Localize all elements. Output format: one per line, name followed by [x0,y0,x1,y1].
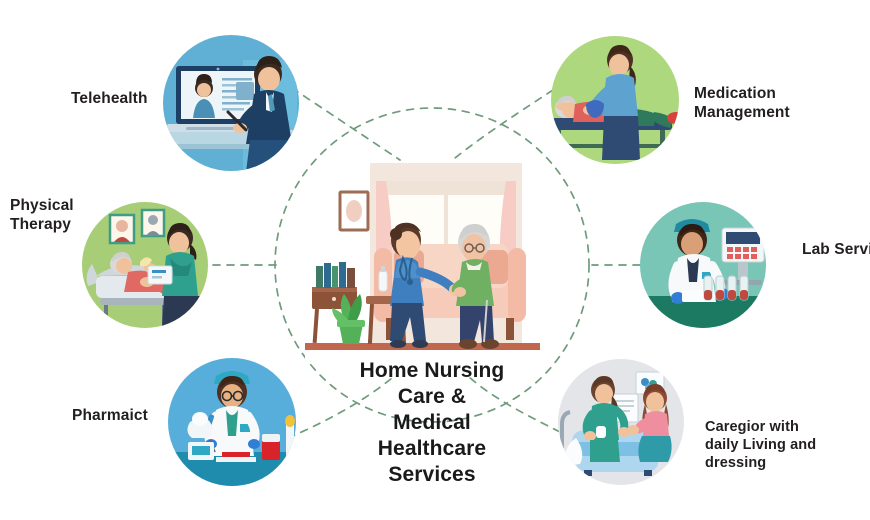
home-nursing-illustration [305,163,540,360]
medication-management-circle[interactable] [551,36,685,164]
telehealth-circle[interactable] [155,35,301,172]
pharmacist-circle[interactable] [168,358,296,488]
label-medication-management: Medication Management [694,84,790,122]
center-title: Home Nursing Care & Medical Healthcare S… [332,358,532,488]
label-caregiver: Caregior with daily Living and dressing [705,418,816,472]
label-lab-service: Lab Service [802,240,870,259]
label-pharmacist: Pharmaict [72,406,148,425]
label-physical-therapy: Physical Therapy [10,196,74,234]
physical-therapy-circle[interactable] [82,202,208,328]
infographic-canvas: Telehealth Physical Therapy Pharmaict Me… [0,0,870,520]
lab-service-circle[interactable] [640,202,766,330]
label-telehealth: Telehealth [71,89,148,108]
caregiver-circle[interactable] [558,359,684,485]
